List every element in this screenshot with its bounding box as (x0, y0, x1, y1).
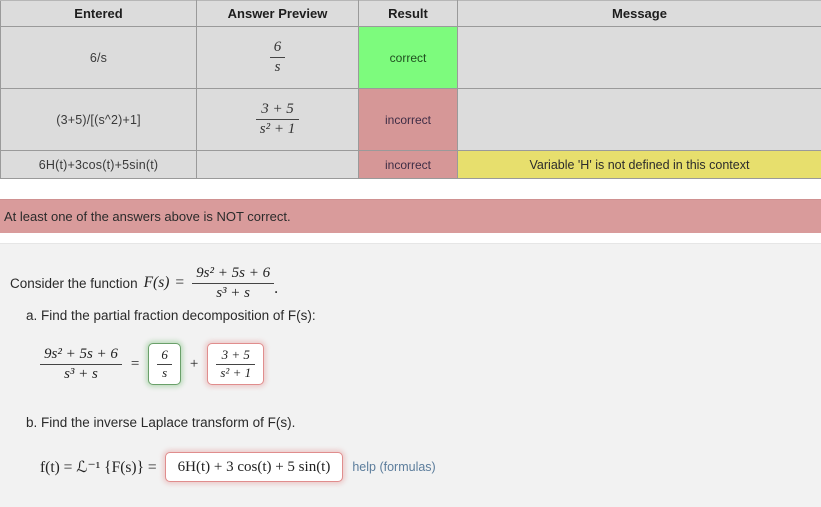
results-table: Entered Answer Preview Result Message 6/… (0, 0, 821, 179)
cell-entered: (3+5)/[(s^2)+1] (1, 89, 197, 151)
column-header-answer-preview: Answer Preview (197, 1, 359, 27)
function-fraction: 9s² + 5s + 6 s³ + s (192, 265, 274, 302)
consider-prefix: Consider the function (10, 276, 138, 291)
fraction-numerator: 6 (270, 39, 286, 57)
answer-box-term-2[interactable]: 3 + 5 s² + 1 (207, 343, 264, 385)
answer-text: 6H(t) + 3 cos(t) + 5 sin(t) (178, 459, 331, 476)
answer-fraction: 6 s (157, 348, 172, 380)
consider-line: Consider the function F(s) = 9s² + 5s + … (0, 262, 821, 304)
fraction-denominator: s³ + s (192, 283, 274, 302)
inverse-laplace-equation: f(t) = ℒ⁻¹ {F(s)} = 6H(t) + 3 cos(t) + 5… (0, 452, 821, 482)
cell-message: Variable 'H' is not defined in this cont… (458, 151, 821, 179)
help-formulas-link[interactable]: help (formulas) (352, 460, 435, 474)
equals-sign: = (131, 356, 139, 373)
table-row: (3+5)/[(s^2)+1] 3 + 5 s² + 1 incorrect (1, 89, 821, 151)
cell-result: incorrect (359, 151, 458, 179)
fraction-numerator: 9s² + 5s + 6 (192, 265, 274, 283)
cell-result: incorrect (359, 89, 458, 151)
preview-fraction: 3 + 5 s² + 1 (256, 101, 299, 138)
answer-fraction: 3 + 5 s² + 1 (216, 348, 255, 380)
plus-sign: + (190, 356, 198, 373)
inverse-lhs: f(t) = ℒ⁻¹ {F(s)} = (40, 458, 157, 477)
problem-page: Entered Answer Preview Result Message 6/… (0, 0, 821, 507)
cell-entered: 6H(t)+3cos(t)+5sin(t) (1, 151, 197, 179)
cell-entered: 6/s (1, 27, 197, 89)
fraction-denominator: s² + 1 (256, 119, 299, 138)
column-header-entered: Entered (1, 1, 197, 27)
lhs-fraction: 9s² + 5s + 6 s³ + s (40, 346, 122, 383)
fraction-numerator: 3 + 5 (256, 101, 299, 119)
cell-message (458, 27, 821, 89)
cell-answer-preview (197, 151, 359, 179)
fraction-denominator: s² + 1 (216, 364, 255, 381)
cell-message (458, 89, 821, 151)
answer-box-term-1[interactable]: 6 s (148, 343, 181, 385)
cell-answer-preview: 6 s (197, 27, 359, 89)
table-header-row: Entered Answer Preview Result Message (1, 1, 821, 27)
table-row: 6/s 6 s correct (1, 27, 821, 89)
alert-banner: At least one of the answers above is NOT… (0, 199, 821, 233)
fraction-denominator: s (157, 364, 172, 381)
fraction-numerator: 6 (157, 348, 172, 364)
fraction-numerator: 3 + 5 (216, 348, 255, 364)
table-row: 6H(t)+3cos(t)+5sin(t) incorrect Variable… (1, 151, 821, 179)
column-header-message: Message (458, 1, 821, 27)
period: . (274, 280, 278, 304)
problem-panel: Consider the function F(s) = 9s² + 5s + … (0, 243, 821, 507)
partial-fraction-equation: 9s² + 5s + 6 s³ + s = 6 s + 3 + 5 s² + 1 (0, 343, 821, 385)
column-header-result: Result (359, 1, 458, 27)
cell-answer-preview: 3 + 5 s² + 1 (197, 89, 359, 151)
equals-sign: = (175, 274, 184, 292)
alert-text: At least one of the answers above is NOT… (4, 209, 291, 224)
preview-fraction: 6 s (270, 39, 286, 76)
cell-result: correct (359, 27, 458, 89)
part-a-prompt: a. Find the partial fraction decompositi… (0, 308, 821, 323)
part-b-prompt: b. Find the inverse Laplace transform of… (0, 415, 821, 430)
function-name: F(s) (144, 274, 170, 292)
fraction-numerator: 9s² + 5s + 6 (40, 346, 122, 364)
fraction-denominator: s (270, 57, 286, 76)
fraction-denominator: s³ + s (40, 364, 122, 383)
answer-box-inverse[interactable]: 6H(t) + 3 cos(t) + 5 sin(t) (165, 452, 344, 482)
